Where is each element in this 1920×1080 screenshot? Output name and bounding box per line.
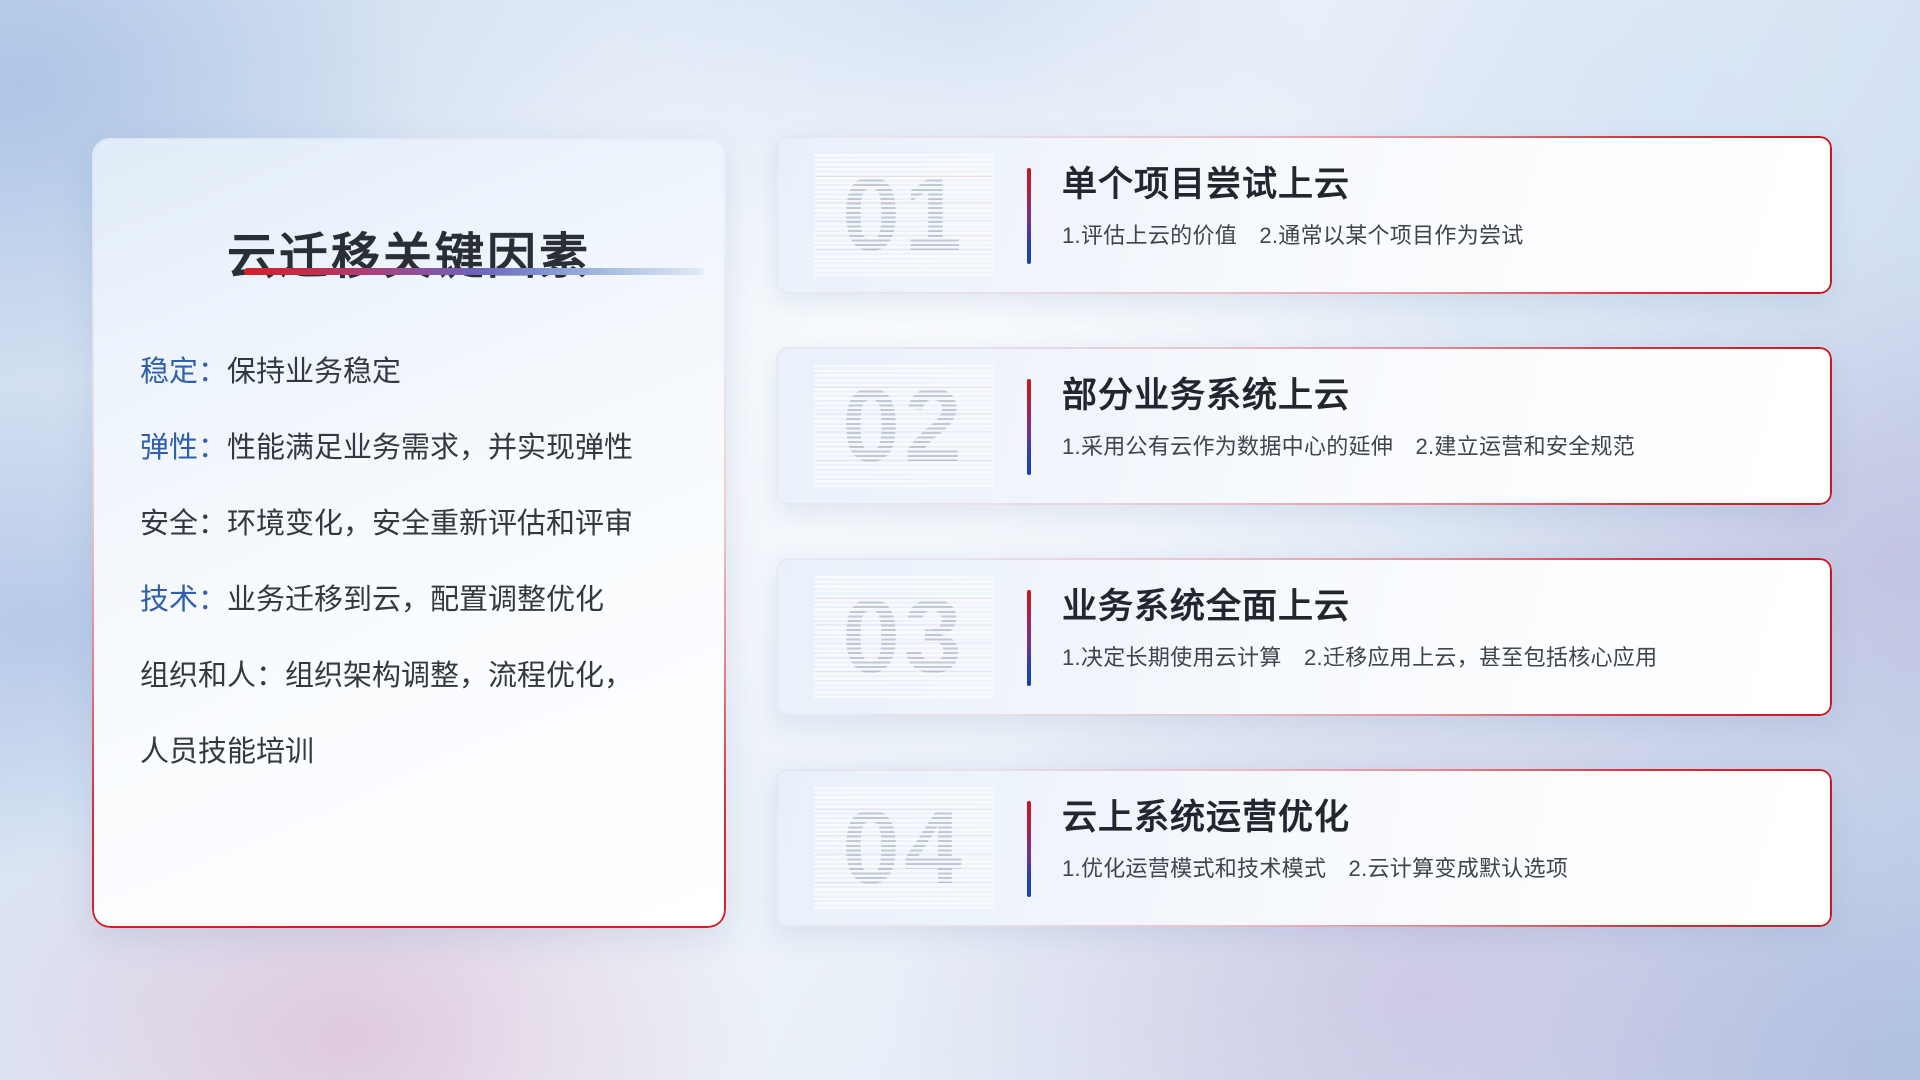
stage-content: 云上系统运营优化 1.优化运营模式和技术模式 2.云计算变成默认选项: [1062, 797, 1806, 882]
stage-description: 1.评估上云的价值 2.通常以某个项目作为尝试: [1062, 222, 1806, 250]
page-title: 云迁移关键因素: [92, 217, 726, 288]
stage-content: 部分业务系统上云 1.采用公有云作为数据中心的延伸 2.建立运营和安全规范: [1062, 375, 1806, 460]
stage-card-02[interactable]: 02 部分业务系统上云 1.采用公有云作为数据中心的延伸 2.建立运营和安全规范: [776, 347, 1832, 505]
stage-number-glyph: 02: [816, 365, 992, 487]
factor-label: 弹性：: [140, 432, 227, 464]
stage-number-01: 01: [816, 154, 992, 276]
factor-value: 保持业务稳定: [227, 356, 401, 388]
list-item: 技术：业务迁移到云，配置调整优化: [140, 586, 706, 615]
factor-label: 技术：: [140, 584, 227, 616]
stage-number-03: 03: [816, 576, 992, 698]
stage-description: 1.优化运营模式和技术模式 2.云计算变成默认选项: [1062, 855, 1806, 883]
factor-label: 稳定：: [140, 356, 227, 388]
stage-divider-bar: [1027, 168, 1031, 264]
stage-content: 单个项目尝试上云 1.评估上云的价值 2.通常以某个项目作为尝试: [1062, 164, 1806, 249]
stage-number-glyph: 04: [816, 787, 992, 909]
stage-title: 部分业务系统上云: [1062, 375, 1806, 418]
stage-title: 单个项目尝试上云: [1062, 164, 1806, 207]
list-item: 稳定：保持业务稳定: [140, 358, 706, 387]
stage-number-04: 04: [816, 787, 992, 909]
factor-value-overflow: 人员技能培训: [140, 736, 314, 768]
list-item: 安全：环境变化，安全重新评估和评审: [140, 510, 706, 539]
stage-number-02: 02: [816, 365, 992, 487]
list-item: 组织和人：组织架构调整，流程优化，: [140, 662, 706, 691]
stage-description: 1.采用公有云作为数据中心的延伸 2.建立运营和安全规范: [1062, 433, 1806, 461]
stage-card-03[interactable]: 03 业务系统全面上云 1.决定长期使用云计算 2.迁移应用上云，甚至包括核心应…: [776, 558, 1832, 716]
stage-divider-bar: [1027, 379, 1031, 475]
stage-number-glyph: 03: [816, 576, 992, 698]
cloud-migration-stages: 01 单个项目尝试上云 1.评估上云的价值 2.通常以某个项目作为尝试 02 部…: [776, 136, 1832, 927]
factor-value: 组织架构调整，流程优化，: [285, 660, 633, 692]
title-underline-rule: [244, 268, 704, 275]
stage-divider-bar: [1027, 590, 1031, 686]
factor-value: 业务迁移到云，配置调整优化: [227, 584, 604, 616]
stage-content: 业务系统全面上云 1.决定长期使用云计算 2.迁移应用上云，甚至包括核心应用: [1062, 586, 1806, 671]
stage-description: 1.决定长期使用云计算 2.迁移应用上云，甚至包括核心应用: [1062, 644, 1806, 672]
stage-divider-bar: [1027, 801, 1031, 897]
key-factors-panel: 云迁移关键因素 稳定：保持业务稳定 弹性：性能满足业务需求，并实现弹性 安全：环…: [92, 138, 726, 928]
factor-value: 环境变化，安全重新评估和评审: [227, 508, 633, 540]
stage-title: 业务系统全面上云: [1062, 586, 1806, 629]
stage-number-glyph: 01: [816, 154, 992, 276]
factor-label: 组织和人：: [140, 660, 285, 692]
stage-title: 云上系统运营优化: [1062, 797, 1806, 840]
stage-card-04[interactable]: 04 云上系统运营优化 1.优化运营模式和技术模式 2.云计算变成默认选项: [776, 769, 1832, 927]
slide-canvas: 云迁移关键因素 稳定：保持业务稳定 弹性：性能满足业务需求，并实现弹性 安全：环…: [0, 0, 1920, 1080]
stage-card-01[interactable]: 01 单个项目尝试上云 1.评估上云的价值 2.通常以某个项目作为尝试: [776, 136, 1832, 294]
key-factors-list: 稳定：保持业务稳定 弹性：性能满足业务需求，并实现弹性 安全：环境变化，安全重新…: [140, 358, 706, 767]
list-item: 弹性：性能满足业务需求，并实现弹性: [140, 434, 706, 463]
factor-label: 安全：: [140, 508, 227, 540]
list-item-wrapped-line: 人员技能培训: [140, 738, 706, 767]
factor-value: 性能满足业务需求，并实现弹性: [227, 432, 633, 464]
